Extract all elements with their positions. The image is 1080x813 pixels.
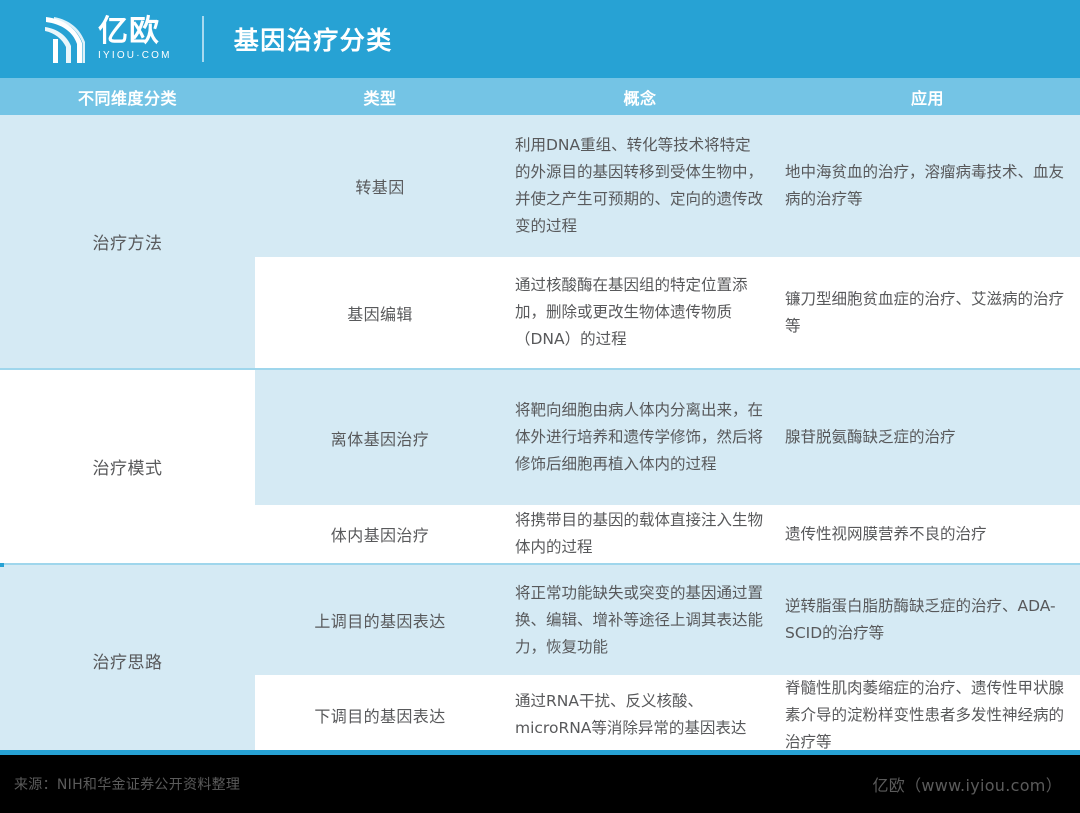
type-cell: 上调目的基因表达 [255, 565, 505, 675]
group-rows: 离体基因治疗 将靶向细胞由病人体内分离出来，在体外进行培养和遗传学修饰，然后将修… [255, 370, 1080, 563]
column-header-type: 类型 [255, 85, 505, 109]
table-body: 治疗方法 转基因 利用DNA重组、转化等技术将特定的外源目的基因转移到受体生物中… [0, 115, 1080, 755]
logo-wordmark: 亿欧 IYIOU·COM [98, 16, 172, 62]
application-cell: 腺苷脱氨酶缺乏症的治疗 [775, 370, 1080, 505]
infographic-page: 亿欧 IYIOU·COM 基因治疗分类 不同维度分类 类型 概念 应用 治疗方法… [0, 0, 1080, 813]
type-cell: 体内基因治疗 [255, 505, 505, 563]
footer-bar: 来源：NIH和华金证券公开资料整理 亿欧（www.iyiou.com） [0, 755, 1080, 813]
dimension-cell: 治疗方法 [0, 115, 255, 368]
group-rows: 上调目的基因表达 将正常功能缺失或突变的基因通过置换、编辑、增补等途径上调其表达… [255, 565, 1080, 755]
iyiou-leaf-logo-icon [44, 13, 90, 65]
concept-cell: 利用DNA重组、转化等技术将特定的外源目的基因转移到受体生物中，并使之产生可预期… [505, 115, 775, 257]
column-header-application: 应用 [775, 85, 1080, 109]
concept-cell: 将携带目的基因的载体直接注入生物体内的过程 [505, 505, 775, 563]
table-row: 基因编辑 通过核酸酶在基因组的特定位置添加，删除或更改生物体遗传物质（DNA）的… [255, 257, 1080, 368]
logo-chinese-text: 亿欧 [98, 16, 160, 48]
table-row: 下调目的基因表达 通过RNA干扰、反义核酸、microRNA等消除异常的基因表达… [255, 675, 1080, 755]
table-row: 上调目的基因表达 将正常功能缺失或突变的基因通过置换、编辑、增补等途径上调其表达… [255, 565, 1080, 675]
page-title: 基因治疗分类 [234, 21, 393, 57]
type-cell: 转基因 [255, 115, 505, 257]
table-row: 离体基因治疗 将靶向细胞由病人体内分离出来，在体外进行培养和遗传学修饰，然后将修… [255, 370, 1080, 505]
application-cell: 遗传性视网膜营养不良的治疗 [775, 505, 1080, 563]
type-cell: 离体基因治疗 [255, 370, 505, 505]
left-edge-marker [0, 563, 4, 567]
brand-logo: 亿欧 IYIOU·COM [44, 13, 172, 65]
table-group: 治疗模式 离体基因治疗 将靶向细胞由病人体内分离出来，在体外进行培养和遗传学修饰… [0, 370, 1080, 563]
group-rows: 转基因 利用DNA重组、转化等技术将特定的外源目的基因转移到受体生物中，并使之产… [255, 115, 1080, 368]
table-row: 体内基因治疗 将携带目的基因的载体直接注入生物体内的过程 遗传性视网膜营养不良的… [255, 505, 1080, 563]
footer-brand-text: 亿欧（www.iyiou.com） [872, 772, 1062, 796]
footer-source-text: 来源：NIH和华金证券公开资料整理 [14, 774, 240, 794]
dimension-cell: 治疗模式 [0, 370, 255, 563]
concept-cell: 通过RNA干扰、反义核酸、microRNA等消除异常的基因表达 [505, 675, 775, 755]
logo-domain-text: IYIOU·COM [98, 49, 172, 62]
concept-cell: 通过核酸酶在基因组的特定位置添加，删除或更改生物体遗传物质（DNA）的过程 [505, 257, 775, 368]
header-bar: 亿欧 IYIOU·COM 基因治疗分类 [0, 0, 1080, 78]
header-divider [202, 16, 204, 62]
concept-cell: 将正常功能缺失或突变的基因通过置换、编辑、增补等途径上调其表达能力，恢复功能 [505, 565, 775, 675]
application-cell: 脊髓性肌肉萎缩症的治疗、遗传性甲状腺素介导的淀粉样变性患者多发性神经病的治疗等 [775, 675, 1080, 755]
concept-cell: 将靶向细胞由病人体内分离出来，在体外进行培养和遗传学修饰，然后将修饰后细胞再植入… [505, 370, 775, 505]
column-header-concept: 概念 [505, 85, 775, 109]
table-group: 治疗方法 转基因 利用DNA重组、转化等技术将特定的外源目的基因转移到受体生物中… [0, 115, 1080, 368]
application-cell: 逆转脂蛋白脂肪酶缺乏症的治疗、ADA-SCID的治疗等 [775, 565, 1080, 675]
type-cell: 下调目的基因表达 [255, 675, 505, 755]
table-column-headers: 不同维度分类 类型 概念 应用 [0, 78, 1080, 115]
table-group: 治疗思路 上调目的基因表达 将正常功能缺失或突变的基因通过置换、编辑、增补等途径… [0, 565, 1080, 755]
application-cell: 地中海贫血的治疗，溶瘤病毒技术、血友病的治疗等 [775, 115, 1080, 257]
column-header-dimension: 不同维度分类 [0, 85, 255, 109]
application-cell: 镰刀型细胞贫血症的治疗、艾滋病的治疗等 [775, 257, 1080, 368]
dimension-cell: 治疗思路 [0, 565, 255, 755]
type-cell: 基因编辑 [255, 257, 505, 368]
table-row: 转基因 利用DNA重组、转化等技术将特定的外源目的基因转移到受体生物中，并使之产… [255, 115, 1080, 257]
